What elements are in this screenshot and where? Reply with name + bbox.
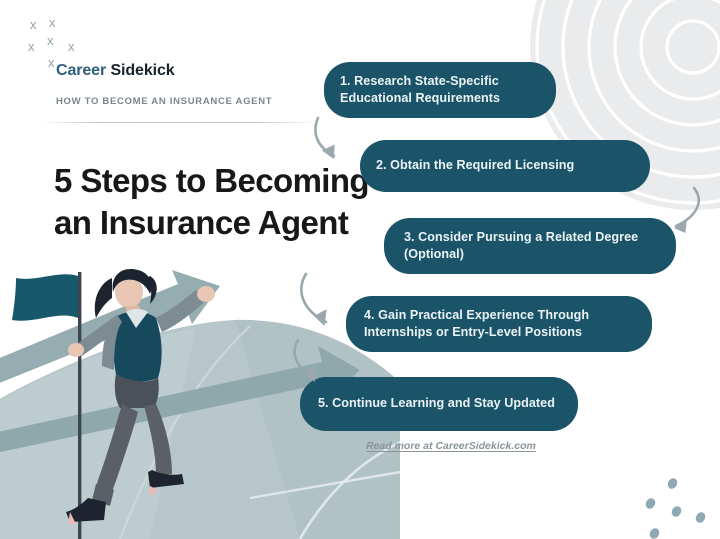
read-more-link[interactable]: Read more at CareerSidekick.com — [366, 440, 536, 452]
header-divider — [44, 122, 312, 123]
x-mark-icon: x — [47, 34, 54, 47]
step-pill-1[interactable]: 1. Research State-Specific Educational R… — [324, 62, 556, 118]
step-pill-5-label: 5. Continue Learning and Stay Updated — [318, 395, 555, 412]
progress-arrow-upper — [0, 270, 220, 394]
flag — [12, 274, 78, 320]
kicker-subtitle: HOW TO BECOME AN INSURANCE AGENT — [56, 96, 272, 107]
decorative-dot — [648, 527, 661, 539]
step-pill-2-label: 2. Obtain the Required Licensing — [376, 157, 574, 174]
x-mark-icon: x — [30, 18, 37, 31]
flag-pole — [78, 272, 81, 539]
decorative-dot — [644, 497, 657, 511]
step-pill-5[interactable]: 5. Continue Learning and Stay Updated — [300, 377, 578, 431]
step-pill-1-label: 1. Research State-Specific Educational R… — [340, 73, 540, 107]
decorative-dot — [670, 505, 683, 519]
infographic-canvas: x x x x x x Career Sidekick HOW TO BECOM… — [0, 0, 720, 539]
step-pill-2[interactable]: 2. Obtain the Required Licensing — [360, 140, 650, 192]
decorative-dot — [666, 477, 679, 491]
woman-figure — [66, 269, 215, 524]
x-mark-icon: x — [49, 16, 56, 29]
brand-logo: Career Sidekick — [56, 62, 175, 80]
shoe-back — [148, 470, 184, 488]
brand-name-secondary: Sidekick — [110, 62, 174, 79]
vest — [113, 312, 161, 382]
page-title: 5 Steps to Becoming an Insurance Agent — [54, 160, 384, 244]
step-pill-4[interactable]: 4. Gain Practical Experience Through Int… — [346, 296, 652, 352]
step-pill-4-label: 4. Gain Practical Experience Through Int… — [364, 307, 634, 341]
brand-name-primary: Career — [56, 62, 106, 79]
x-mark-icon: x — [48, 56, 55, 69]
x-mark-icon: x — [68, 40, 75, 53]
step-pill-3[interactable]: 3. Consider Pursuing a Related Degree (O… — [384, 218, 676, 274]
decorative-dot — [694, 511, 707, 525]
shoe-front — [66, 498, 106, 522]
step-pill-3-label: 3. Consider Pursuing a Related Degree (O… — [404, 229, 656, 263]
x-mark-icon: x — [28, 40, 35, 53]
